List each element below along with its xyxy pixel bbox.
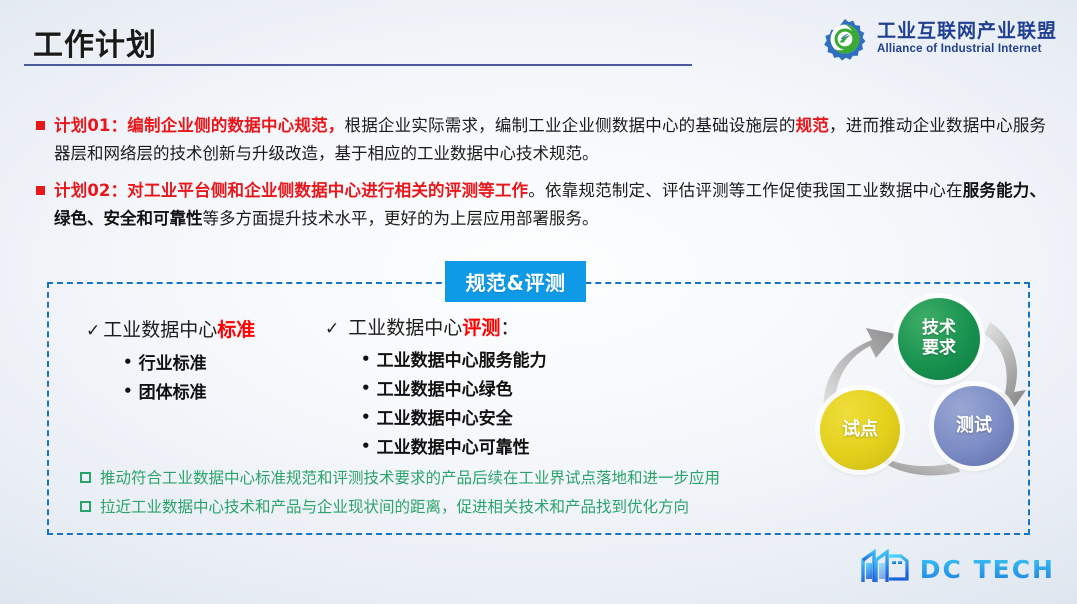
plan-bullet-1: 计划01：编制企业侧的数据中心规范，根据企业实际需求，编制工业企业侧数据中心的基… <box>36 112 1046 168</box>
title-underline <box>24 64 692 66</box>
plan-bullet-2: 计划02：对工业平台侧和企业侧数据中心进行相关的评测等工作。依靠规范制定、评估评… <box>36 177 1046 233</box>
plan-1-seg-0: 计划01：编制企业侧的数据中心规范， <box>54 116 345 135</box>
evaluation-sub-item: •工业数据中心绿色 <box>361 375 547 404</box>
evaluation-sub-item-label: 工业数据中心安全 <box>377 409 513 429</box>
plan-bullet-list: 计划01：编制企业侧的数据中心规范，根据企业实际需求，编制工业企业侧数据中心的基… <box>36 112 1046 242</box>
dc-building-icon <box>858 549 912 590</box>
dot-bullet-icon: • <box>361 379 371 397</box>
evaluation-heading-plain: 工业数据中心 <box>348 317 462 339</box>
cycle-node-pilot-label: 试点 <box>842 420 878 441</box>
plan-bullet-2-text: 计划02：对工业平台侧和企业侧数据中心进行相关的评测等工作。依靠规范制定、评估评… <box>54 177 1046 233</box>
standards-sub-item-label: 行业标准 <box>139 354 207 374</box>
cycle-node-testing-label: 测试 <box>956 416 992 437</box>
panel-badge: 规范&评测 <box>445 261 586 302</box>
plan-bullet-1-text: 计划01：编制企业侧的数据中心规范，根据企业实际需求，编制工业企业侧数据中心的基… <box>54 112 1046 168</box>
plan-1-seg-2: 规范 <box>796 116 829 135</box>
standards-sub-list: •行业标准 •团体标准 <box>123 349 255 407</box>
dctech-logo: DC TECH <box>858 549 1055 590</box>
outcome-note-text: 推动符合工业数据中心标准规范和评测技术要求的产品后续在工业界试点落地和进一步应用 <box>100 466 720 491</box>
alliance-logo-cn: 工业互联网产业联盟 <box>877 22 1057 41</box>
dot-bullet-icon: • <box>361 350 371 368</box>
slide-root: 工作计划 工业互联网产业联盟 Alliance of Industrial In… <box>0 0 1077 604</box>
evaluation-heading-accent: 评测 <box>462 317 500 339</box>
standards-sub-item: •行业标准 <box>123 349 255 378</box>
cycle-node-testing[interactable]: 测试 <box>934 386 1014 466</box>
evaluation-sub-item: •工业数据中心可靠性 <box>361 433 547 462</box>
alliance-logo: 工业互联网产业联盟 Alliance of Industrial Interne… <box>822 16 1057 62</box>
check-icon: ✓ <box>86 321 100 341</box>
cycle-node-pilot[interactable]: 试点 <box>820 390 900 470</box>
alliance-logo-en: Alliance of Industrial Internet <box>877 44 1057 56</box>
evaluation-sub-list: •工业数据中心服务能力 •工业数据中心绿色 •工业数据中心安全 •工业数据中心可… <box>361 346 547 462</box>
cycle-node-tech-label-2: 要求 <box>922 339 956 359</box>
gear-swirl-icon <box>822 16 868 62</box>
standards-heading: ✓工业数据中心标准 <box>86 315 255 342</box>
process-cycle-diagram: 技术 要求 测试 试点 <box>800 296 1040 476</box>
evaluation-heading: ✓ 工业数据中心评测： <box>325 313 547 340</box>
evaluation-heading-suffix: ： <box>500 317 519 339</box>
plan-1-seg-1: 根据企业实际需求，编制工业企业侧数据中心的基础设施层的 <box>345 116 796 135</box>
plan-2-seg-1: 。依靠规范制定、评估评测等工作促使我国工业数据中心在 <box>528 181 962 200</box>
standards-heading-plain: 工业数据中心 <box>103 319 217 341</box>
outcome-note: 推动符合工业数据中心标准规范和评测技术要求的产品后续在工业界试点落地和进一步应用 <box>80 466 720 491</box>
evaluation-sub-item: •工业数据中心服务能力 <box>361 346 547 375</box>
standards-sub-item-label: 团体标准 <box>139 383 207 403</box>
standards-sub-item: •团体标准 <box>123 378 255 407</box>
page-title: 工作计划 <box>33 20 157 64</box>
dctech-wordmark: DC TECH <box>920 555 1055 584</box>
outcome-note: 拉近工业数据中心技术和产品与企业现状间的距离，促进相关技术和产品找到优化方向 <box>80 495 720 520</box>
evaluation-sub-item-label: 工业数据中心服务能力 <box>377 351 547 371</box>
dot-bullet-icon: • <box>361 408 371 426</box>
hollow-square-bullet-icon <box>80 501 91 512</box>
red-square-bullet-icon <box>36 121 45 130</box>
evaluation-sub-item: •工业数据中心安全 <box>361 404 547 433</box>
standards-heading-accent: 标准 <box>217 319 255 341</box>
dot-bullet-icon: • <box>123 382 133 400</box>
plan-2-seg-3: 等多方面提升技术水平，更好的为上层应用部署服务。 <box>203 209 599 228</box>
dot-bullet-icon: • <box>123 353 133 371</box>
cycle-node-tech-label-1: 技术 <box>922 319 956 339</box>
cycle-node-tech-requirement[interactable]: 技术 要求 <box>898 298 980 380</box>
evaluation-sub-item-label: 工业数据中心可靠性 <box>377 438 530 458</box>
plan-2-seg-0: 计划02：对工业平台侧和企业侧数据中心进行相关的评测等工作 <box>54 181 528 200</box>
check-icon: ✓ <box>325 319 339 339</box>
dot-bullet-icon: • <box>361 437 371 455</box>
evaluation-column: ✓ 工业数据中心评测： •工业数据中心服务能力 •工业数据中心绿色 •工业数据中… <box>325 313 547 462</box>
hollow-square-bullet-icon <box>80 472 91 483</box>
standards-column: ✓工业数据中心标准 •行业标准 •团体标准 <box>86 315 255 407</box>
red-square-bullet-icon <box>36 186 45 195</box>
outcome-notes-list: 推动符合工业数据中心标准规范和评测技术要求的产品后续在工业界试点落地和进一步应用… <box>80 466 720 524</box>
evaluation-sub-item-label: 工业数据中心绿色 <box>377 380 513 400</box>
outcome-note-text: 拉近工业数据中心技术和产品与企业现状间的距离，促进相关技术和产品找到优化方向 <box>100 495 689 520</box>
